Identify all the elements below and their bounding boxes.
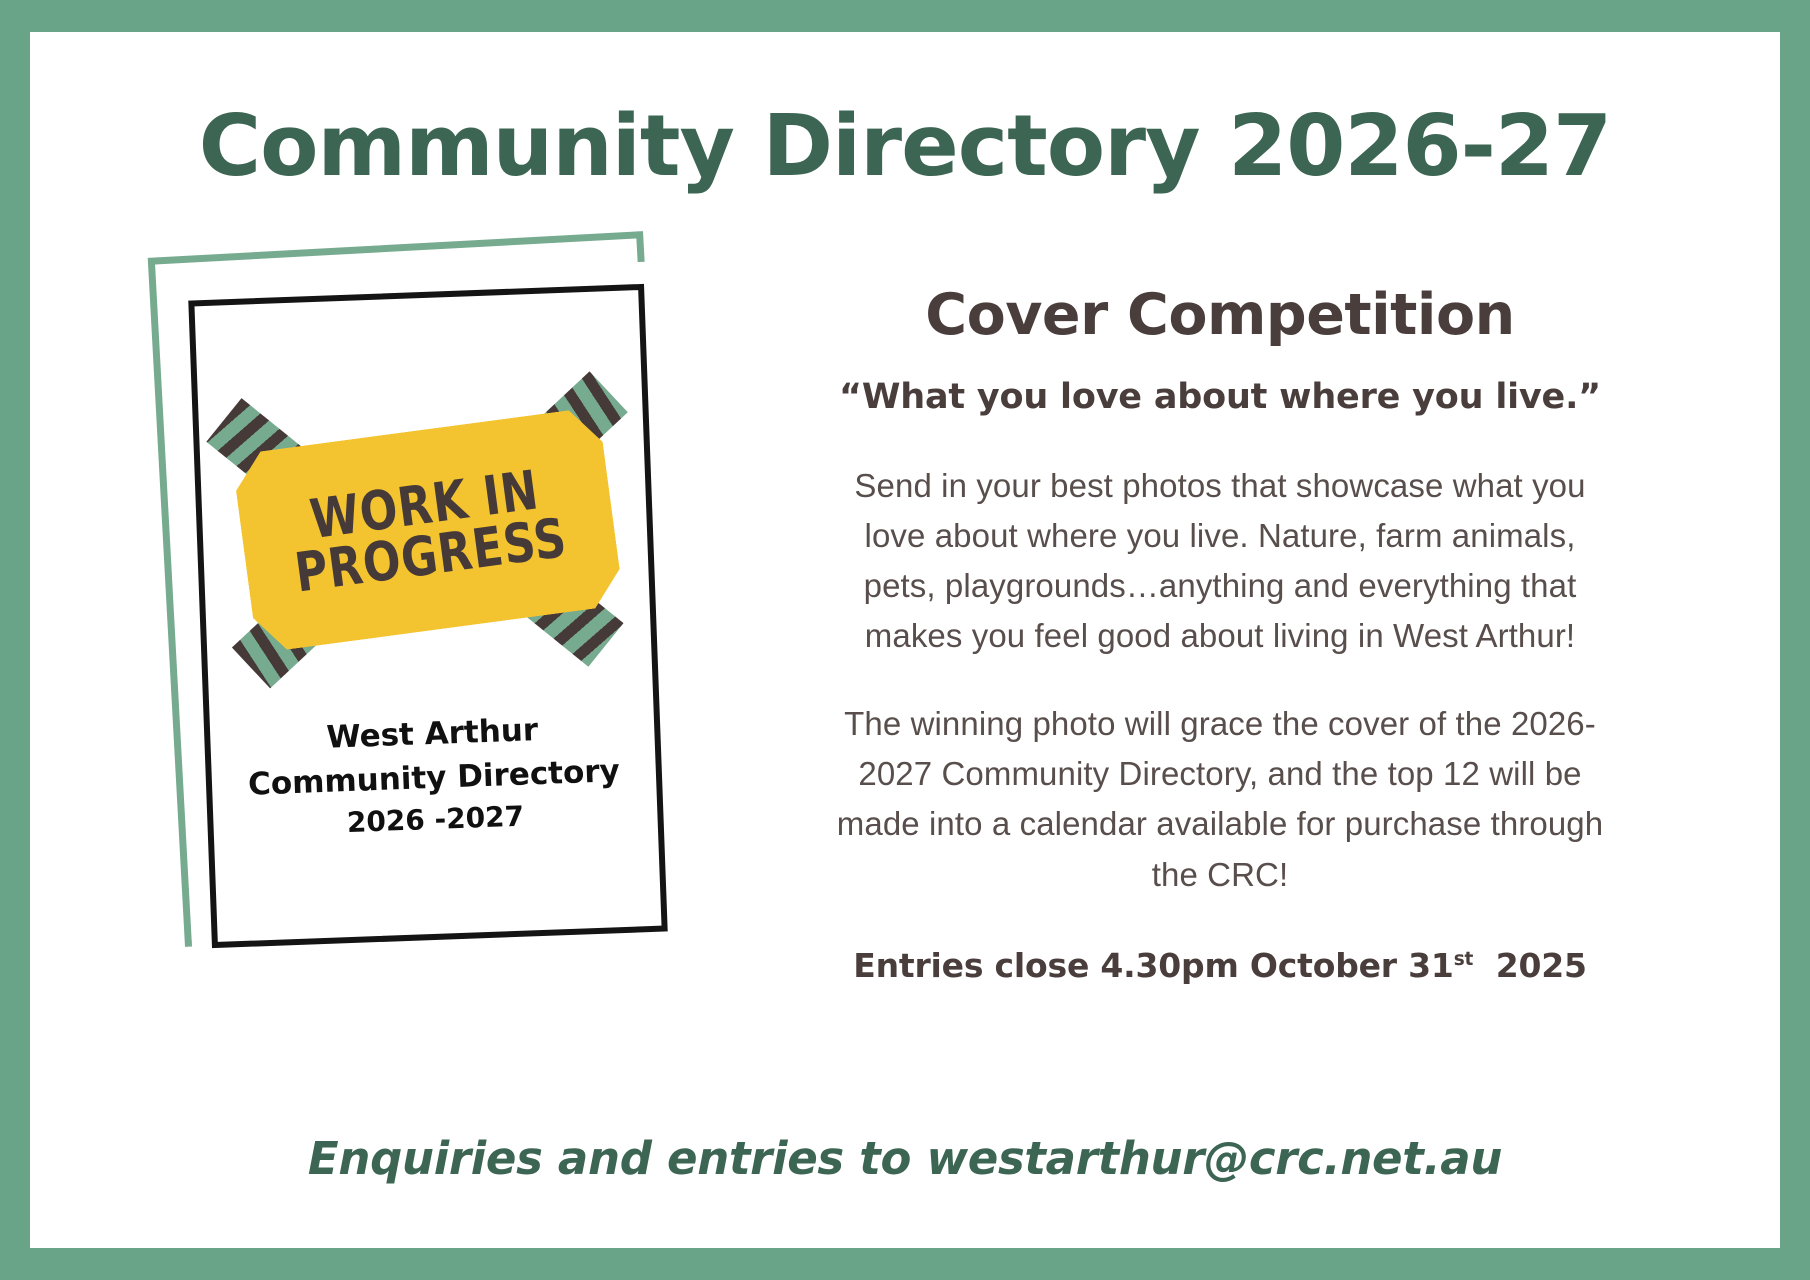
contact-footer[interactable]: Enquiries and entries to westarthur@crc.… [30, 1132, 1780, 1185]
entry-deadline: Entries close 4.30pm October 31st 2025 [720, 946, 1720, 985]
body-paragraph-1: Send in your best photos that showcase w… [825, 461, 1615, 662]
cover-title-block: West Arthur Community Directory 2026 -20… [204, 704, 664, 848]
deadline-text: Entries close 4.30pm October 31 [853, 946, 1453, 985]
section-heading: Cover Competition [720, 287, 1720, 344]
deadline-year: 2025 [1496, 946, 1587, 985]
page-title: Community Directory 2026-27 [30, 104, 1780, 189]
competition-copy: Cover Competition “What you love about w… [720, 287, 1720, 985]
poster-canvas: Community Directory 2026-27 WORK IN PROG… [30, 32, 1780, 1248]
poster: Community Directory 2026-27 WORK IN PROG… [0, 0, 1810, 1280]
directory-cover-artwork: WORK IN PROGRESS West Arthur Community D… [128, 222, 748, 1002]
competition-tagline: “What you love about where you live.” [720, 378, 1720, 417]
body-paragraph-2: The winning photo will grace the cover o… [830, 699, 1610, 900]
deadline-ordinal-suffix: st [1454, 949, 1473, 970]
cover-content-group: WORK IN PROGRESS West Arthur Community D… [188, 284, 667, 948]
